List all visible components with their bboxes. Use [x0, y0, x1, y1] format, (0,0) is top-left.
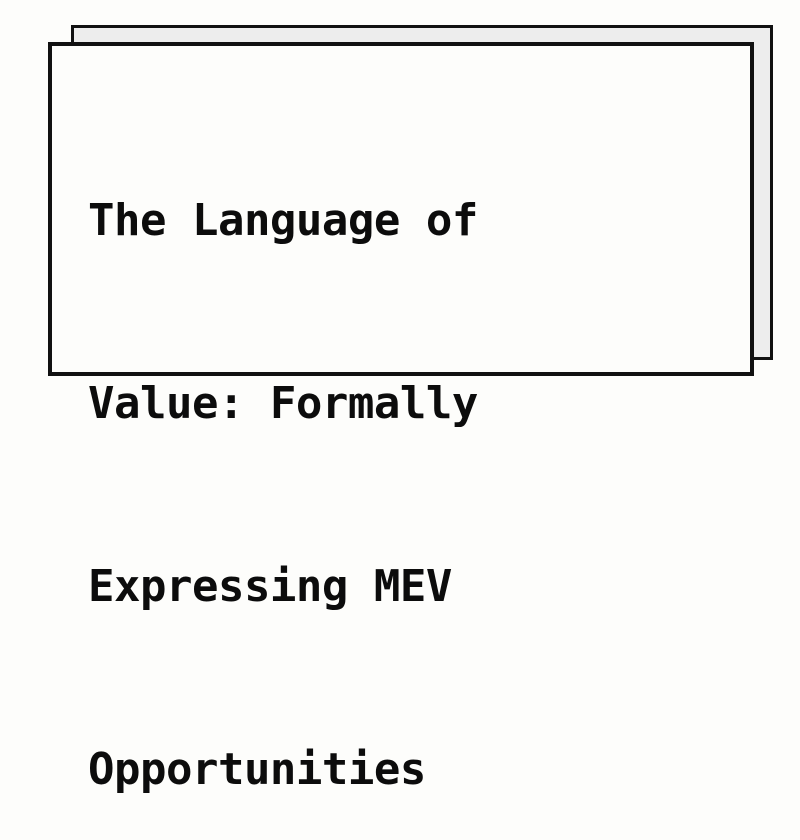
card-content: The Language of Value: Formally Expressi…: [52, 46, 750, 372]
article-header-card: The Language of Value: Formally Expressi…: [48, 42, 754, 376]
article-header-card-stack: The Language of Value: Formally Expressi…: [0, 0, 800, 420]
title-line-3: Expressing MEV: [88, 556, 716, 617]
title-line-4: Opportunities: [88, 739, 716, 800]
page-title: The Language of Value: Formally Expressi…: [88, 68, 716, 840]
title-line-1: The Language of: [88, 190, 716, 251]
title-line-2: Value: Formally: [88, 373, 716, 434]
